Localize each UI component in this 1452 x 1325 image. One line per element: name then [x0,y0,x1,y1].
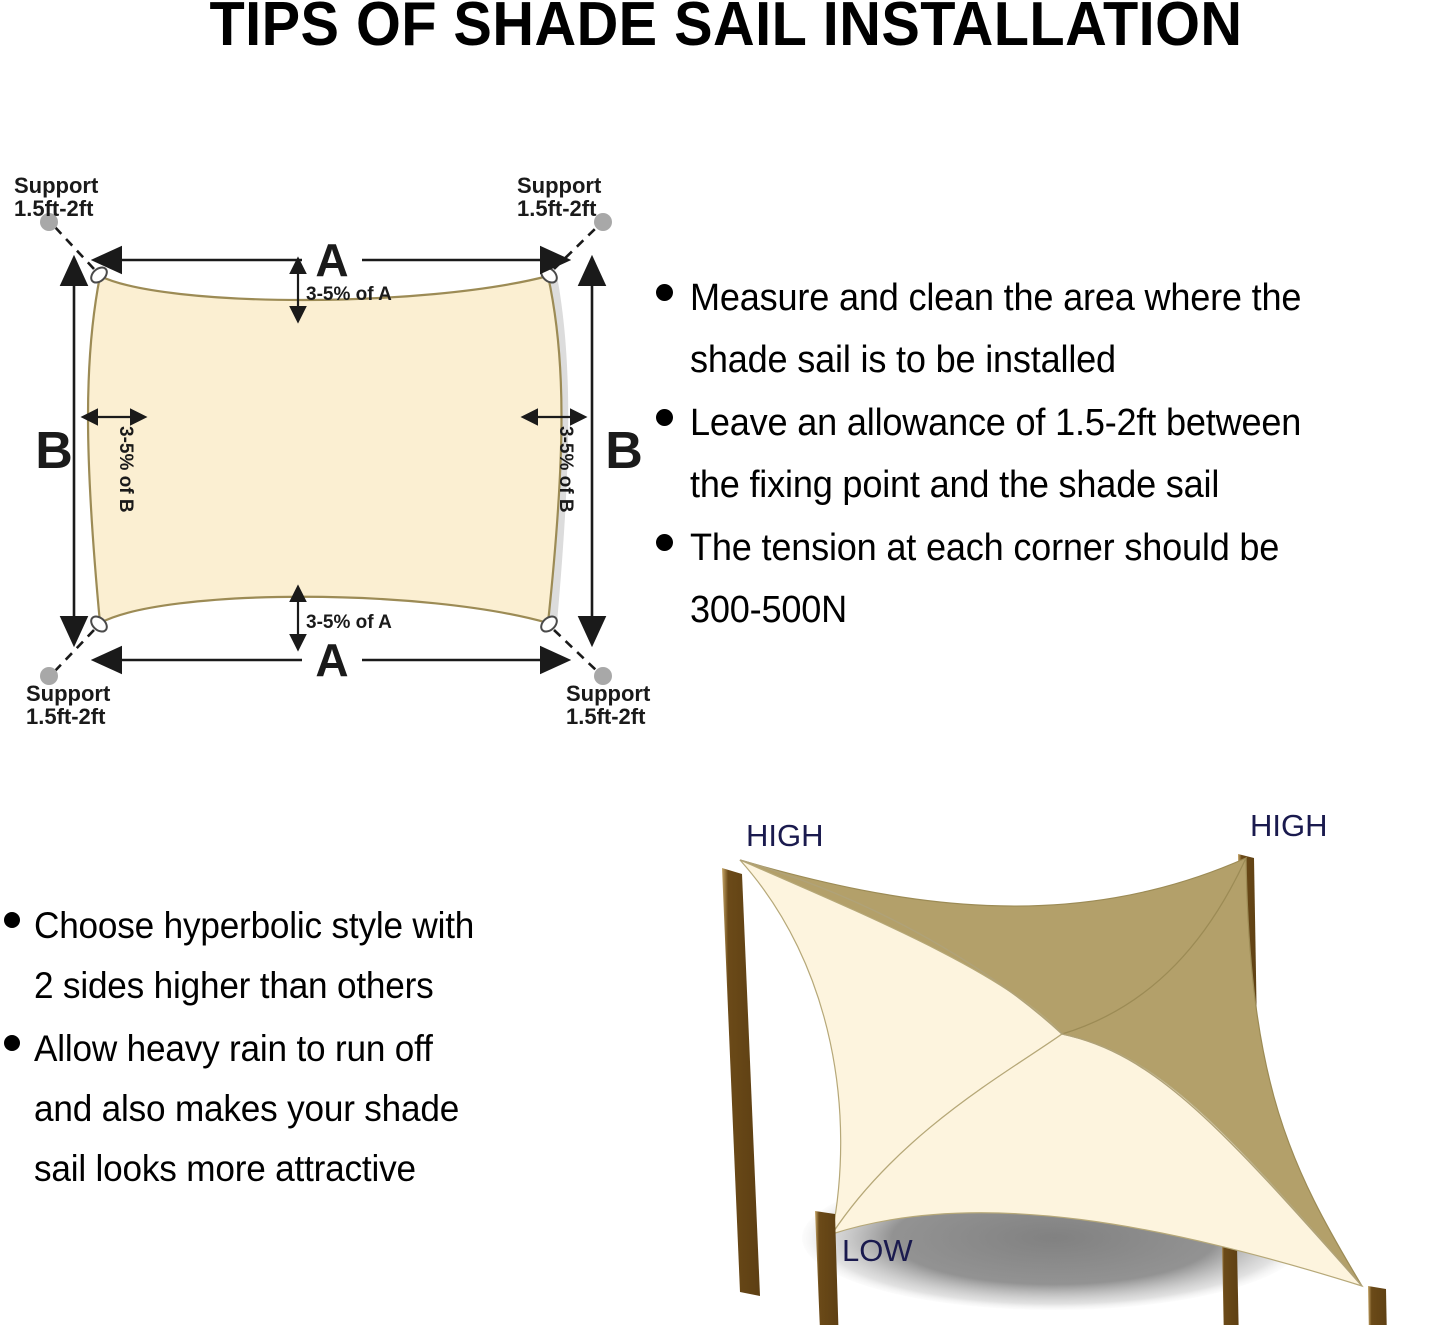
support-label-top-right: Support 1.5ft-2ft [517,173,602,221]
label-high-left: HIGH [746,818,824,853]
support-label-line1: Support [26,681,111,706]
tolerance-label-b-right: 3-5% of B [555,426,576,513]
dimension-a-bottom: A 3-5% of A [122,602,540,686]
support-label-line1: Support [14,173,99,198]
support-label-top-left: Support 1.5ft-2ft [14,173,99,221]
support-label-line2: 1.5ft-2ft [566,704,646,728]
tolerance-label-a-bottom: 3-5% of A [306,612,392,633]
hyperbolic-sail-diagram: HIGH HIGH LOW LOW [650,786,1452,1325]
list-item: Leave an allowance of 1.5-2ft between th… [656,393,1452,516]
label-high-right: HIGH [1250,808,1328,843]
list-item: Choose hyperbolic style with 2 sides hig… [4,896,624,1017]
dimension-label-b: B [605,422,643,480]
tip-text: Measure and clean the area where the sha… [690,268,1418,391]
tips-list-top: Measure and clean the area where the sha… [656,268,1452,643]
tip-text: Leave an allowance of 1.5-2ft between th… [690,393,1418,516]
bullet-icon [656,409,673,426]
rectangular-sail-diagram: Support 1.5ft-2ft Support 1.5ft-2ft Supp… [0,168,660,728]
list-item: Measure and clean the area where the sha… [656,268,1452,391]
tip-text: Choose hyperbolic style with 2 sides hig… [34,896,595,1017]
post-high-left [722,868,760,1296]
tips-list-bottom: Choose hyperbolic style with 2 sides hig… [4,896,624,1201]
post-low-right [1368,1286,1390,1325]
tolerance-label-b-left: 3-5% of B [115,426,136,513]
dimension-label-a: A [315,234,348,286]
list-item: The tension at each corner should be 300… [656,518,1452,641]
list-item: Allow heavy rain to run off and also mak… [4,1019,624,1200]
tip-text: The tension at each corner should be 300… [690,518,1418,641]
support-label-line1: Support [517,173,602,198]
support-label-line2: 1.5ft-2ft [26,704,106,728]
tolerance-label-a-top: 3-5% of A [306,284,392,305]
support-label-line2: 1.5ft-2ft [517,196,597,221]
shade-sail-shape [88,276,562,623]
tip-text: Allow heavy rain to run off and also mak… [34,1019,595,1200]
support-label-bottom-right: Support 1.5ft-2ft [566,681,651,728]
support-label-line1: Support [566,681,651,706]
support-label-line2: 1.5ft-2ft [14,196,94,221]
bullet-icon [4,1035,20,1051]
dimension-label-a: A [315,634,348,686]
dimension-label-b: B [35,422,73,480]
support-label-bottom-left: Support 1.5ft-2ft [26,681,111,728]
page-title: TIPS OF SHADE SAIL INSTALLATION [51,0,1401,56]
label-low-left: LOW [842,1233,913,1268]
bullet-icon [4,912,20,928]
bullet-icon [656,534,673,551]
bullet-icon [656,284,673,301]
